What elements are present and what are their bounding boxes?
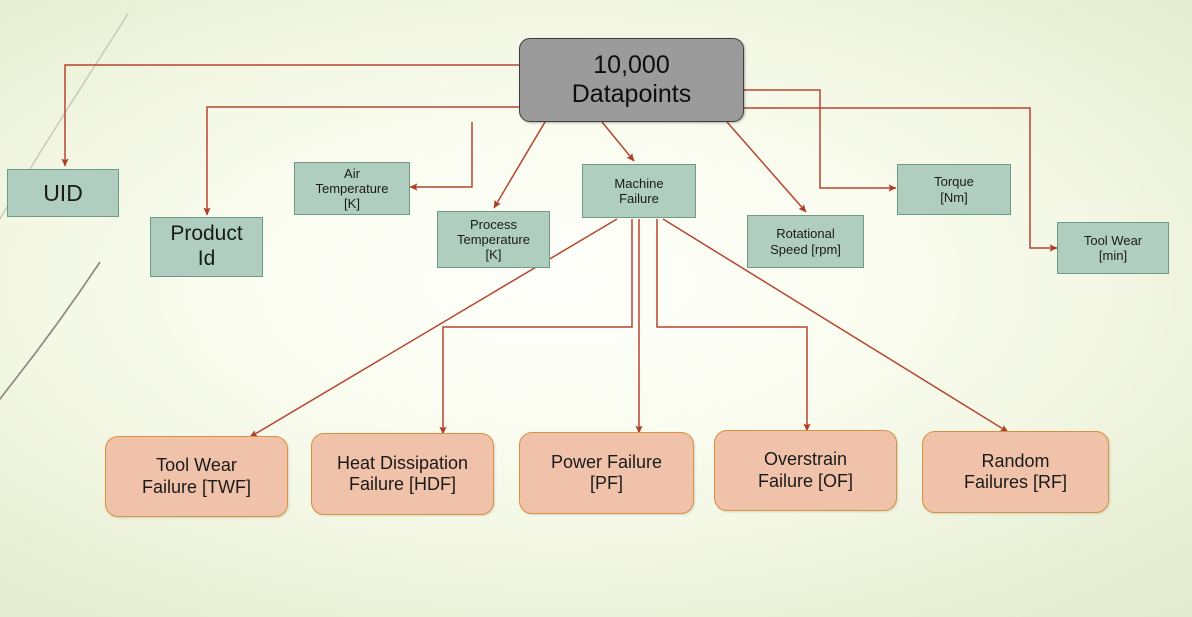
node-failure-of-label: Overstrain Failure [OF] xyxy=(758,449,853,491)
diagram-canvas: 10,000 Datapoints UID Product Id Air Tem… xyxy=(0,0,1192,617)
edge-root-to-rotational-speed xyxy=(727,122,806,212)
node-tool-wear-label: Tool Wear [min] xyxy=(1084,233,1142,263)
edge-root-to-process-temperature xyxy=(494,122,545,208)
node-air-temperature-label: Air Temperature [K] xyxy=(316,166,389,212)
node-failure-of[interactable]: Overstrain Failure [OF] xyxy=(714,430,897,511)
node-uid-label: UID xyxy=(43,180,83,207)
node-machine-failure[interactable]: Machine Failure xyxy=(582,164,696,218)
node-failure-rf[interactable]: Random Failures [RF] xyxy=(922,431,1109,513)
node-uid[interactable]: UID xyxy=(7,169,119,217)
node-rotational-speed-label: Rotational Speed [rpm] xyxy=(770,226,841,256)
node-tool-wear[interactable]: Tool Wear [min] xyxy=(1057,222,1169,274)
node-torque-label: Torque [Nm] xyxy=(934,174,974,204)
node-torque[interactable]: Torque [Nm] xyxy=(897,164,1011,215)
edge-root-to-torque xyxy=(744,90,896,188)
node-root-label: 10,000 Datapoints xyxy=(572,51,692,110)
node-failure-pf[interactable]: Power Failure [PF] xyxy=(519,432,694,514)
edge-root-to-machine-failure xyxy=(602,122,634,161)
node-failure-hdf-label: Heat Dissipation Failure [HDF] xyxy=(337,453,468,495)
edge-root-to-air-temperature xyxy=(410,122,472,187)
node-machine-failure-label: Machine Failure xyxy=(614,176,663,206)
node-rotational-speed[interactable]: Rotational Speed [rpm] xyxy=(747,215,864,268)
node-failure-pf-label: Power Failure [PF] xyxy=(551,452,662,494)
edge-machine-failure-to-twf xyxy=(250,219,617,437)
node-root-datapoints[interactable]: 10,000 Datapoints xyxy=(519,38,744,122)
node-product-id-label: Product Id xyxy=(170,222,242,271)
node-product-id[interactable]: Product Id xyxy=(150,217,263,277)
node-failure-rf-label: Random Failures [RF] xyxy=(964,451,1067,493)
node-air-temperature[interactable]: Air Temperature [K] xyxy=(294,162,410,215)
edge-root-to-uid xyxy=(65,65,519,166)
node-failure-twf-label: Tool Wear Failure [TWF] xyxy=(142,455,251,497)
node-process-temperature[interactable]: Process Temperature [K] xyxy=(437,211,550,268)
node-failure-hdf[interactable]: Heat Dissipation Failure [HDF] xyxy=(311,433,494,515)
node-process-temperature-label: Process Temperature [K] xyxy=(457,217,530,263)
node-failure-twf[interactable]: Tool Wear Failure [TWF] xyxy=(105,436,288,517)
